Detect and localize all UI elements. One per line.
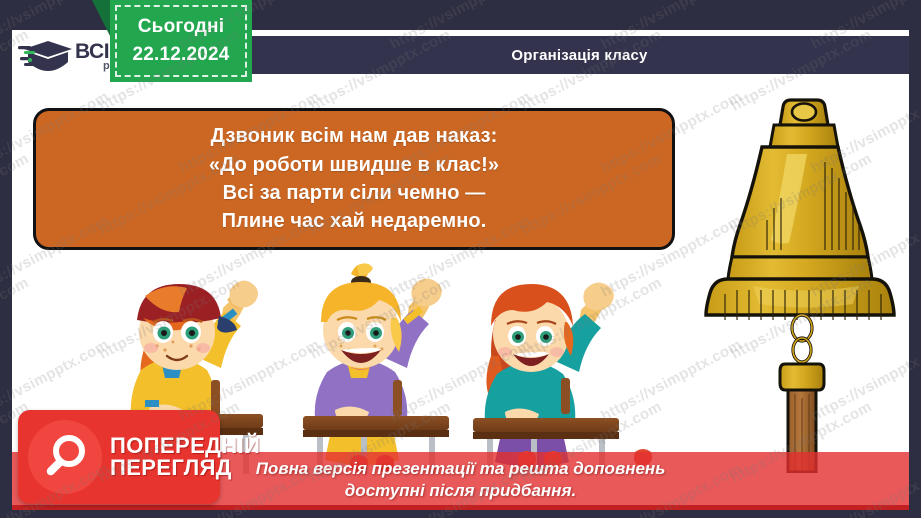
today-date: 22.12.2024 (132, 41, 229, 69)
today-date-badge: Сьогодні 22.12.2024 (110, 0, 252, 82)
slide-header-bar: Організація класу (250, 36, 909, 74)
poem-line-4: Плине час хай недаремно. (222, 207, 487, 235)
today-label: Сьогодні (138, 13, 224, 41)
preview-line-2: ПЕРЕГЛЯД (110, 457, 260, 479)
preview-badge-text: ПОПЕРЕДНІЙ ПЕРЕГЛЯД (110, 435, 260, 480)
poem-line-2: «До роботи швидше в клас!» (209, 151, 499, 179)
graduation-cap-icon (18, 37, 74, 75)
preview-badge[interactable]: ПОПЕРЕДНІЙ ПЕРЕГЛЯД (18, 410, 220, 504)
banner-line-2: доступні після придбання. (345, 480, 576, 502)
banner-bottom-strip (12, 505, 909, 510)
poem-box: Дзвоник всім нам дав наказ: «До роботи ш… (33, 108, 675, 250)
preview-line-1: ПОПЕРЕДНІЙ (110, 435, 260, 457)
poem-line-1: Дзвоник всім нам дав наказ: (211, 122, 498, 150)
poem-line-3: Всі за парти сіли чемно — (223, 179, 486, 207)
school-bell-icon (695, 88, 910, 473)
page-title: Організація класу (511, 47, 647, 64)
banner-line-1: Повна версія презентації та решта доповн… (256, 458, 666, 480)
presentation-slide: Дзвоник всім нам дав наказ: «До роботи ш… (0, 0, 921, 518)
magnifier-icon (28, 420, 102, 494)
